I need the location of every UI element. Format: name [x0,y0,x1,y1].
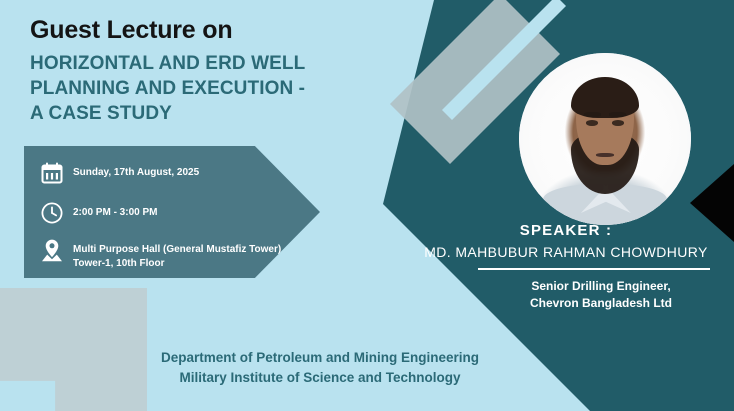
portrait-eyebrow-left [584,112,601,116]
detail-venue-text: Multi Purpose Hall (General Mustafiz Tow… [73,238,281,270]
page-subtitle-line-2: PLANNING AND EXECUTION - [30,76,390,101]
speaker-block: SPEAKER : MD. MAHBUBUR RAHMAN CHOWDHURY … [406,222,726,312]
poster-canvas: Guest Lecture on HORIZONTAL AND ERD WELL… [0,0,734,411]
speaker-role-line-2: Chevron Bangladesh Ltd [476,295,726,312]
detail-venue-line-2: Tower-1, 10th Floor [73,257,281,271]
portrait-hair [571,77,640,118]
detail-row-date: Sunday, 17th August, 2025 [40,161,199,185]
speaker-role-line-1: Senior Drilling Engineer, [476,278,726,295]
detail-time-text: 2:00 PM - 3:00 PM [73,201,157,220]
speaker-divider [478,268,710,270]
footer-line-2: Military Institute of Science and Techno… [0,368,640,388]
detail-date-text: Sunday, 17th August, 2025 [73,161,199,180]
page-subtitle-line-3: A CASE STUDY [30,101,390,126]
detail-venue-line-1: Multi Purpose Hall (General Mustafiz Tow… [73,243,281,257]
portrait-eye-right [612,120,624,126]
location-pin-icon [40,238,64,262]
page-subtitle-line-1: HORIZONTAL AND ERD WELL [30,51,390,76]
footer-line-1: Department of Petroleum and Mining Engin… [0,348,640,368]
page-title: Guest Lecture on [30,16,390,45]
speaker-portrait-image [519,53,691,225]
speaker-photo [519,53,691,225]
portrait-eye-left [586,120,598,126]
calendar-icon [40,161,64,185]
detail-row-venue: Multi Purpose Hall (General Mustafiz Tow… [40,238,281,270]
footer-block: Department of Petroleum and Mining Engin… [0,348,640,389]
speaker-label: SPEAKER : [406,222,726,239]
headline-block: Guest Lecture on HORIZONTAL AND ERD WELL… [30,16,390,126]
clock-icon [40,201,64,225]
portrait-eyebrow-right [609,112,626,116]
portrait-mouth [596,153,613,157]
speaker-name: MD. MAHBUBUR RAHMAN CHOWDHURY [406,244,726,260]
speaker-role: Senior Drilling Engineer, Chevron Bangla… [406,278,726,312]
detail-row-time: 2:00 PM - 3:00 PM [40,201,157,225]
page-subtitle: HORIZONTAL AND ERD WELL PLANNING AND EXE… [30,51,390,126]
